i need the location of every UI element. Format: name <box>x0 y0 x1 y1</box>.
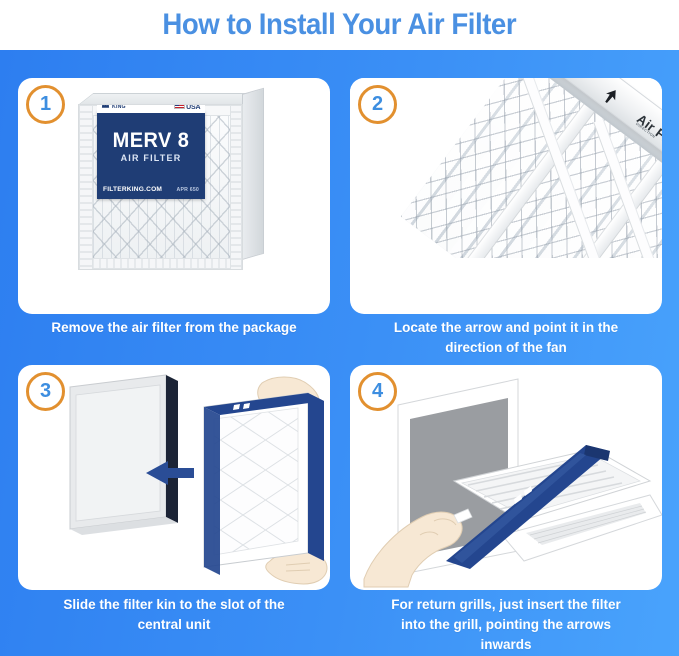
product-brand-strip: FILTER KING MADE IN USA <box>97 104 205 113</box>
usa-flag-icon <box>174 104 185 109</box>
crown-icon <box>101 104 110 110</box>
slide-filter-illustration <box>18 365 330 590</box>
steps-grid: FILTER KING MADE IN USA <box>0 50 679 656</box>
step-caption-2: Locate the arrow and point it in the dir… <box>350 318 662 358</box>
step-caption-4-line-2: into the grill, pointing the arrows <box>350 615 662 635</box>
step-card-2: Air Filter DIRECTION 2 <box>350 78 662 314</box>
merv-rating-text: MERV 8 <box>100 129 203 153</box>
step-badge-4: 4 <box>358 372 397 411</box>
label-footer: FILTERKING.COM APR 650 <box>103 186 199 193</box>
step-4-card-surface: 4 <box>350 365 662 590</box>
step-caption-3-line-2: central unit <box>18 615 330 635</box>
step-2-card-surface: Air Filter DIRECTION 2 <box>350 78 662 314</box>
merv-label: MERV 8 AIR FILTER FILTERKING.COM APR 650 <box>97 111 205 199</box>
page-title: How to Install Your Air Filter <box>163 8 517 42</box>
step-badge-2: 2 <box>358 85 397 124</box>
step-caption-2-line-2: direction of the fan <box>350 338 662 358</box>
step-caption-3-line-1: Slide the filter kin to the slot of the <box>18 595 330 615</box>
frame-bottom <box>79 258 243 269</box>
step-card-1: FILTER KING MADE IN USA <box>18 78 330 314</box>
step-caption-3: Slide the filter kin to the slot of the … <box>18 595 330 635</box>
step-caption-2-line-1: Locate the arrow and point it in the <box>350 318 662 338</box>
step-badge-1: 1 <box>26 85 65 124</box>
step-card-3: 3 <box>18 365 330 590</box>
central-unit-slot <box>70 375 178 535</box>
step-caption-1: Remove the air filter from the package <box>18 318 330 338</box>
return-grill-illustration <box>350 365 662 590</box>
apr-rating-text: APR 650 <box>177 187 199 193</box>
brand-text: FILTER KING <box>112 104 131 110</box>
step-1-card-surface: FILTER KING MADE IN USA <box>18 78 330 314</box>
airflow-arrow-icon <box>599 84 623 108</box>
frame-right <box>230 105 242 270</box>
filter-corner-body: Air Filter DIRECTION <box>397 78 662 258</box>
filter-product-photo: FILTER KING MADE IN USA <box>78 104 268 276</box>
made-in-usa-badge: MADE IN USA <box>174 104 201 110</box>
step-caption-4: For return grills, just insert the filte… <box>350 595 662 655</box>
infographic-page: How to Install Your Air Filter <box>0 0 679 656</box>
filter-king-logo: FILTER KING <box>101 104 131 110</box>
website-text: FILTERKING.COM <box>103 186 162 193</box>
frame-left <box>79 105 93 270</box>
product-side-face <box>242 88 264 260</box>
step-card-4: 4 <box>350 365 662 590</box>
air-filter-subtitle: AIR FILTER <box>97 153 205 163</box>
product-front-face: FILTER KING MADE IN USA <box>78 104 243 270</box>
country-text: USA <box>186 105 201 110</box>
step-3-card-surface: 3 <box>18 365 330 590</box>
step-caption-4-line-1: For return grills, just insert the filte… <box>350 595 662 615</box>
header: How to Install Your Air Filter <box>0 0 679 50</box>
brand-line-2: KING <box>112 105 131 110</box>
step-badge-3: 3 <box>26 372 65 411</box>
step-caption-4-line-3: inwards <box>350 635 662 655</box>
